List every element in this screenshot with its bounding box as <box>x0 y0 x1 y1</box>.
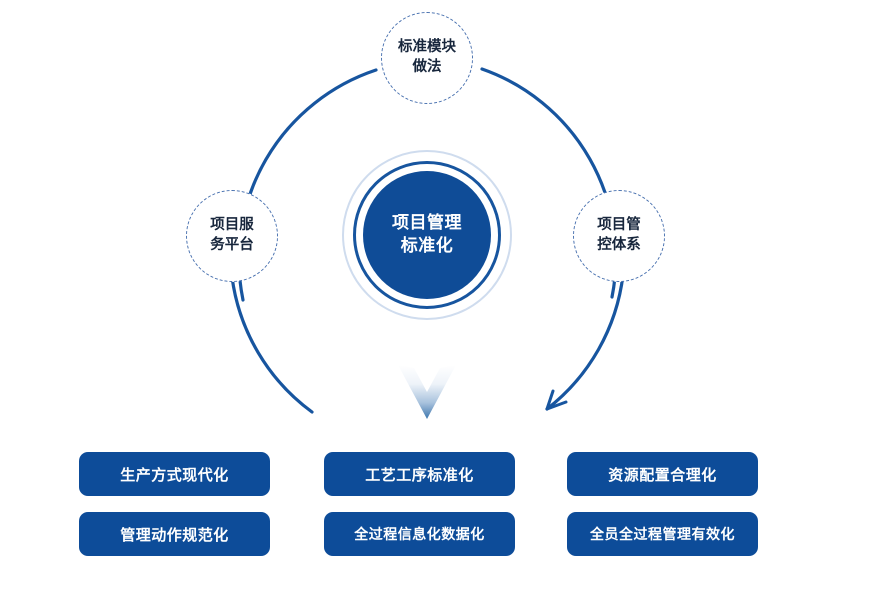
outcome-box-4[interactable]: 管理动作规范化 <box>79 512 270 556</box>
arc-right-lower <box>547 275 623 409</box>
satellite-node-right[interactable]: 项目管 控体系 <box>573 190 665 282</box>
diagram-canvas: 项目管理 标准化 标准模块 做法 项目服 务平台 项目管 控体系 生产方式现代化… <box>0 0 884 590</box>
satellite-label-right: 项目管 控体系 <box>597 216 641 255</box>
satellite-label-top: 标准模块 做法 <box>398 38 456 77</box>
arc-left-lower <box>232 277 312 412</box>
down-arrow-icon <box>398 365 456 419</box>
outcome-label-4: 管理动作规范化 <box>120 524 229 545</box>
outcome-box-3[interactable]: 资源配置合理化 <box>567 452 758 496</box>
satellite-label-left: 项目服 务平台 <box>210 216 254 255</box>
center-label: 项目管理 标准化 <box>392 212 462 259</box>
outcome-label-1: 生产方式现代化 <box>120 464 229 485</box>
satellite-node-top[interactable]: 标准模块 做法 <box>381 12 473 104</box>
outcome-label-3: 资源配置合理化 <box>608 464 717 485</box>
satellite-node-left[interactable]: 项目服 务平台 <box>186 190 278 282</box>
outcome-label-6: 全员全过程管理有效化 <box>590 524 735 544</box>
arc-arrowhead-icon <box>547 391 566 409</box>
outcome-label-5: 全过程信息化数据化 <box>354 524 485 544</box>
outcome-box-1[interactable]: 生产方式现代化 <box>79 452 270 496</box>
outcome-box-6[interactable]: 全员全过程管理有效化 <box>567 512 758 556</box>
outcome-box-2[interactable]: 工艺工序标准化 <box>324 452 515 496</box>
outcome-box-5[interactable]: 全过程信息化数据化 <box>324 512 515 556</box>
outcome-label-2: 工艺工序标准化 <box>365 464 474 485</box>
emblem-core: 项目管理 标准化 <box>363 171 491 299</box>
